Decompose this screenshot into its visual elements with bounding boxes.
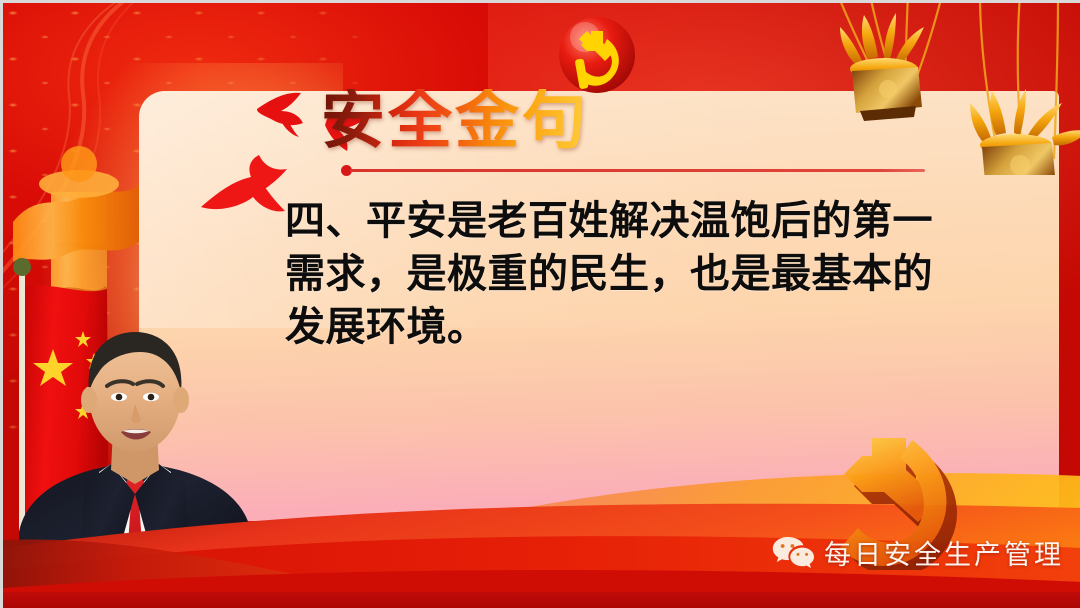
divider-line [350,169,925,172]
title-divider [341,163,925,177]
watermark-label: 每日安全生产管理 [824,533,1064,572]
wechat-icon [772,536,814,570]
lantern-icon [820,0,1080,175]
bottom-bar [3,592,1080,608]
page-title: 安全金句 [321,89,589,153]
watermark: 每日安全生产管理 [772,533,1064,572]
quote-body-text: 四、平安是老百姓解决温饱后的第一需求，是极重的民生，也是最基本的发展环境。 [285,195,945,355]
slide-canvas: 安全金句 四、平安是老百姓解决温饱后的第一需求，是极重的民生，也是最基本的发展环… [0,0,1080,608]
